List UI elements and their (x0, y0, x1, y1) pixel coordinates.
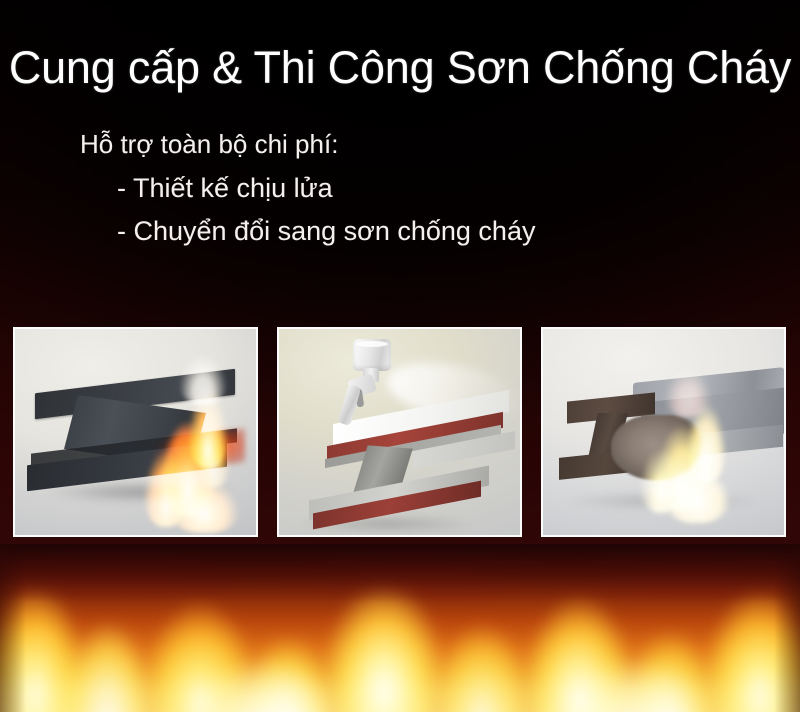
coated-i-beam (307, 407, 512, 525)
fireproof-paint-banner: Cung cấp & Thi Công Sơn Chống Cháy Hỗ tr… (0, 0, 800, 712)
flame-tongue (700, 556, 800, 712)
photo-strip (13, 327, 787, 537)
page-title: Cung cấp & Thi Công Sơn Chống Cháy (0, 44, 800, 93)
flame-cluster (635, 357, 765, 517)
flame-tongue (320, 550, 448, 712)
subcopy-lead: Hỗ trợ toàn bộ chi phí: (0, 131, 800, 157)
spray-gun-canister (353, 339, 391, 371)
spray-gun-icon (341, 339, 397, 425)
flame-tongue (430, 590, 534, 712)
subcopy-block: Hỗ trợ toàn bộ chi phí: - Thiết kế chịu … (0, 131, 800, 261)
photo-steel-beam-burning (13, 327, 258, 537)
subcopy-bullet-1: - Thiết kế chịu lửa (0, 175, 800, 202)
flame-cluster (135, 341, 258, 531)
photo-intumescent-char-forming (541, 327, 786, 537)
subcopy-bullet-2: - Chuyển đổi sang sơn chống cháy (0, 218, 800, 245)
photo-spray-applying-coating (277, 327, 522, 537)
flame-base (169, 471, 241, 533)
flame-band (0, 544, 800, 712)
flame-base (663, 465, 731, 523)
